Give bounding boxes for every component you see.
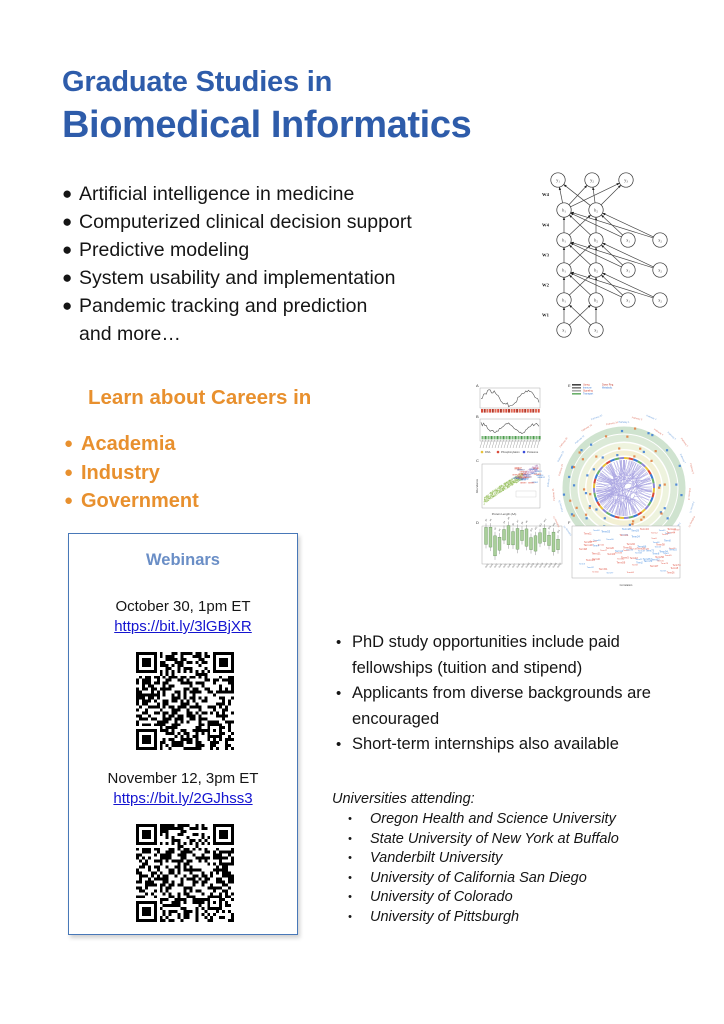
- svg-text:W4: W4: [542, 223, 550, 228]
- svg-text:GENE28: GENE28: [529, 469, 536, 471]
- svg-text:Term62: Term62: [617, 558, 625, 561]
- svg-text:Term46: Term46: [626, 550, 634, 552]
- universities-list: • Oregon Health and Science University •…: [348, 810, 698, 928]
- topic-label: Artificial intelligence in medicine: [79, 180, 354, 208]
- svg-text:x₂: x₂: [594, 328, 598, 333]
- svg-text:Term45: Term45: [586, 558, 595, 562]
- bullet-icon: •: [332, 681, 352, 707]
- university-label: State University of New York at Buffalo: [370, 830, 619, 850]
- svg-text:GENE22: GENE22: [534, 471, 541, 473]
- svg-text:C: C: [476, 458, 479, 463]
- bullet-icon: •: [348, 888, 370, 908]
- svg-text:Term9: Term9: [651, 537, 656, 540]
- svg-text:Term74: Term74: [673, 564, 682, 567]
- svg-text:Term59: Term59: [617, 561, 626, 565]
- svg-text:h₁: h₁: [562, 298, 566, 303]
- list-item: • University of Colorado: [348, 888, 698, 908]
- program-point-label: Applicants from diverse backgrounds are …: [352, 681, 692, 732]
- career-label: Academia: [81, 430, 176, 459]
- svg-text:GENE16: GENE16: [522, 474, 529, 476]
- svg-text:Term69: Term69: [584, 541, 592, 544]
- topic-label: Predictive modeling: [79, 236, 249, 264]
- bullet-icon: ●: [62, 208, 79, 236]
- list-item: • State University of New York at Buffal…: [348, 830, 698, 850]
- webinars-panel: Webinars October 30, 1pm ET https://bit.…: [68, 533, 298, 935]
- svg-text:Term8: Term8: [632, 563, 639, 566]
- list-item: ● Industry: [64, 459, 364, 488]
- svg-text:Term75: Term75: [661, 562, 669, 565]
- svg-text:Term49: Term49: [659, 530, 667, 532]
- svg-text:Abundance: Abundance: [475, 478, 479, 493]
- svg-text:h₁: h₁: [562, 268, 566, 273]
- svg-text:Term3: Term3: [579, 562, 586, 565]
- svg-text:Term20: Term20: [606, 547, 615, 550]
- svg-text:GENE3: GENE3: [528, 483, 534, 485]
- svg-text:Term51: Term51: [599, 567, 608, 571]
- svg-text:Term63: Term63: [607, 553, 616, 556]
- svg-text:Term24: Term24: [631, 536, 640, 539]
- svg-text:Phosphorylation: Phosphorylation: [501, 450, 520, 454]
- list-item: • PhD study opportunities include paid f…: [332, 630, 692, 681]
- bullet-icon: ●: [64, 487, 81, 516]
- university-label: University of Colorado: [370, 888, 513, 908]
- webinar-link-october[interactable]: https://bit.ly/3lGBjXR: [69, 618, 297, 635]
- svg-text:GENE29: GENE29: [514, 468, 521, 470]
- svg-text:Term72: Term72: [621, 535, 629, 537]
- bullet-icon: ●: [64, 430, 81, 459]
- svg-text:D: D: [476, 520, 479, 525]
- svg-text:GENE27: GENE27: [524, 477, 531, 479]
- svg-text:Term17: Term17: [600, 550, 608, 552]
- svg-text:x₁: x₁: [626, 238, 630, 243]
- poster-page: Graduate Studies in Biomedical Informati…: [0, 0, 724, 1024]
- career-label: Government: [81, 487, 199, 516]
- bullet-icon: •: [332, 732, 352, 758]
- list-item: ● Artificial intelligence in medicine: [62, 180, 522, 208]
- svg-text:y₃: y₃: [624, 178, 628, 183]
- program-point-label: Short-term internships also available: [352, 732, 692, 758]
- svg-text:Term71: Term71: [660, 569, 666, 572]
- panel-c: C GENE0GENE1GENE2GENE3GENE4GENE5GENE6GEN…: [475, 458, 545, 516]
- svg-text:Term68: Term68: [579, 548, 588, 551]
- svg-text:Term0: Term0: [664, 540, 671, 543]
- svg-text:Term56: Term56: [655, 555, 664, 559]
- list-item: • Applicants from diverse backgrounds ar…: [332, 681, 692, 732]
- bullet-icon: ●: [64, 459, 81, 488]
- bullet-icon: •: [348, 869, 370, 889]
- program-points-list: • PhD study opportunities include paid f…: [332, 630, 692, 758]
- svg-text:Transport: Transport: [583, 393, 593, 396]
- svg-text:Term66: Term66: [637, 545, 646, 549]
- topic-label: Pandemic tracking and prediction: [79, 292, 367, 320]
- svg-text:Term21: Term21: [592, 552, 601, 556]
- svg-text:Term42: Term42: [598, 544, 606, 546]
- svg-text:x₂: x₂: [658, 268, 662, 273]
- career-label: Industry: [81, 459, 160, 488]
- svg-text:y₁: y₁: [556, 178, 560, 183]
- omics-figure-svg: A B RNA Phosphorylation Proteome C: [464, 378, 696, 596]
- university-label: University of California San Diego: [370, 869, 587, 889]
- svg-text:x₁: x₁: [562, 328, 566, 333]
- svg-text:Term30: Term30: [606, 538, 614, 541]
- page-title-line-2: Biomedical Informatics: [62, 104, 471, 147]
- svg-text:Term77: Term77: [606, 572, 614, 575]
- svg-text:W2: W2: [542, 283, 550, 288]
- svg-text:GENE23: GENE23: [520, 472, 527, 474]
- svg-text:Pathway 1: Pathway 1: [619, 421, 630, 424]
- svg-text:Term28: Term28: [622, 527, 631, 531]
- svg-text:h₂: h₂: [594, 298, 598, 303]
- svg-text:Term70: Term70: [644, 559, 653, 563]
- list-item: ● System usability and implementation: [62, 264, 522, 292]
- svg-text:GENE19: GENE19: [512, 475, 519, 477]
- svg-text:Term54: Term54: [659, 549, 668, 553]
- svg-text:B: B: [476, 414, 479, 419]
- universities-heading: Universities attending:: [332, 791, 475, 807]
- svg-text:y₂: y₂: [590, 178, 594, 183]
- bullet-icon: •: [348, 849, 370, 869]
- svg-text:Term64: Term64: [627, 571, 635, 574]
- webinar-date-november: November 12, 3pm ET: [69, 770, 297, 787]
- svg-text:W4: W4: [542, 192, 550, 197]
- qr-code-november-webinar[interactable]: [136, 824, 234, 922]
- university-label: Vanderbilt University: [370, 849, 502, 869]
- panel-f: F Term0Term1Term2Term3Term4Term5Term6Ter…: [568, 520, 681, 587]
- svg-text:h₂: h₂: [594, 238, 598, 243]
- webinar-date-october: October 30, 1pm ET: [69, 598, 297, 615]
- svg-text:Term50: Term50: [592, 570, 598, 573]
- careers-list: ● Academia ● Industry ● Government: [64, 430, 364, 516]
- svg-text:Term73: Term73: [646, 550, 655, 553]
- list-item: ● Computerized clinical decision support: [62, 208, 522, 236]
- svg-text:Term29: Term29: [631, 529, 639, 532]
- list-item: • Short-term internships also available: [332, 732, 692, 758]
- research-topics-list: ● Artificial intelligence in medicine ● …: [62, 180, 522, 348]
- neural-network-svg: x₁x₂h₁h₂h₁h₂h₁h₂h₁h₂x₁x₂x₁x₂x₁x₂y₁y₂y₃ W…: [524, 172, 694, 344]
- university-label: Oregon Health and Science University: [370, 810, 616, 830]
- svg-text:Term15: Term15: [671, 567, 679, 570]
- svg-text:Term43: Term43: [630, 557, 639, 560]
- svg-text:Term32: Term32: [587, 566, 595, 569]
- topic-label: System usability and implementation: [79, 264, 396, 292]
- svg-text:Term33: Term33: [615, 552, 623, 555]
- page-title-line-1: Graduate Studies in: [62, 66, 332, 99]
- list-item: ● Predictive modeling: [62, 236, 522, 264]
- bullet-icon: ●: [62, 236, 79, 264]
- svg-text:Term26: Term26: [667, 571, 675, 574]
- svg-text:GENE21: GENE21: [534, 474, 541, 476]
- svg-text:Proteome: Proteome: [527, 450, 539, 454]
- unfolded-recurrent-neural-network-diagram: x₁x₂h₁h₂h₁h₂h₁h₂h₁h₂x₁x₂x₁x₂x₁x₂y₁y₂y₃ W…: [524, 172, 694, 344]
- bullet-icon: •: [348, 908, 370, 928]
- university-label: University of Pittsburgh: [370, 908, 519, 928]
- bullet-icon: •: [348, 830, 370, 850]
- topic-label: Computerized clinical decision support: [79, 208, 412, 236]
- webinar-link-november[interactable]: https://bit.ly/2GJhss3: [69, 790, 297, 807]
- list-item: • Vanderbilt University: [348, 849, 698, 869]
- bullet-icon: ●: [62, 292, 79, 320]
- svg-text:h₂: h₂: [594, 208, 598, 213]
- multi-panel-omics-figure: A B RNA Phosphorylation Proteome C: [464, 378, 696, 596]
- list-item: ● Pandemic tracking and prediction: [62, 292, 522, 320]
- svg-text:Term58: Term58: [635, 552, 643, 555]
- bullet-icon: •: [332, 630, 352, 656]
- program-point-label: PhD study opportunities include paid fel…: [352, 630, 692, 681]
- svg-text:Term16: Term16: [640, 527, 649, 531]
- list-item: ● Government: [64, 487, 364, 516]
- svg-text:h₂: h₂: [594, 268, 598, 273]
- svg-text:RNA: RNA: [485, 450, 491, 454]
- svg-text:Term44: Term44: [667, 530, 676, 534]
- svg-text:x₂: x₂: [658, 238, 662, 243]
- bullet-icon: ●: [62, 180, 79, 208]
- topics-continuation-label: and more…: [62, 320, 522, 348]
- svg-text:Term67: Term67: [650, 565, 659, 568]
- svg-text:Term36: Term36: [627, 543, 636, 546]
- svg-text:E: E: [568, 383, 571, 388]
- svg-text:Term48: Term48: [653, 542, 661, 544]
- svg-text:Protein Length (AA): Protein Length (AA): [492, 512, 517, 516]
- svg-text:x₁: x₁: [626, 268, 630, 273]
- qr-code-october-webinar[interactable]: [136, 652, 234, 750]
- svg-text:GENE9: GENE9: [520, 482, 526, 484]
- svg-text:Metabolic: Metabolic: [602, 387, 613, 390]
- svg-text:Term34: Term34: [593, 529, 599, 532]
- svg-text:x₁: x₁: [626, 298, 630, 303]
- svg-text:Term53: Term53: [601, 530, 610, 534]
- svg-text:GENE12: GENE12: [537, 477, 544, 479]
- careers-heading: Learn about Careers in: [88, 386, 311, 410]
- bullet-icon: ●: [62, 264, 79, 292]
- svg-text:Term55: Term55: [623, 545, 632, 549]
- bullet-icon: •: [348, 810, 370, 830]
- list-item: • Oregon Health and Science University: [348, 810, 698, 830]
- svg-text:A: A: [476, 383, 479, 388]
- svg-text:Term76: Term76: [669, 547, 675, 550]
- webinars-title: Webinars: [69, 551, 297, 570]
- svg-text:x₂: x₂: [658, 298, 662, 303]
- svg-text:h₁: h₁: [562, 208, 566, 213]
- svg-text:h₁: h₁: [562, 238, 566, 243]
- svg-text:Term12: Term12: [651, 533, 659, 535]
- svg-text:Term11: Term11: [584, 532, 592, 535]
- list-item: ● Academia: [64, 430, 364, 459]
- svg-text:Term65: Term65: [665, 554, 673, 557]
- list-item: • University of California San Diego: [348, 869, 698, 889]
- svg-text:W3: W3: [542, 253, 550, 258]
- svg-text:Correlation: Correlation: [620, 583, 633, 587]
- list-item: • University of Pittsburgh: [348, 908, 698, 928]
- svg-text:W1: W1: [542, 313, 550, 318]
